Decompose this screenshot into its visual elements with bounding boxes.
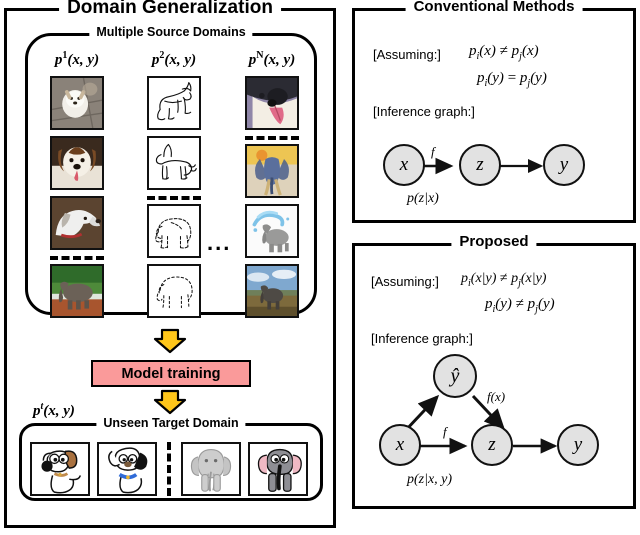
dog-sketch-1: [147, 76, 201, 130]
proposed-panel: Proposed [Assuming:] pi(x|y) ≠ pj(x|y) p…: [352, 243, 636, 509]
source-column-2-label: p2(x, y): [152, 50, 196, 69]
elephant-sketch-1: [147, 204, 201, 258]
source-column-1: p1(x, y): [44, 76, 110, 324]
node-z: z: [471, 424, 513, 466]
node-x: x: [379, 424, 421, 466]
multiple-source-domains-group: Multiple Source Domains p1(x, y): [25, 33, 317, 315]
elephant-painting-spray: [245, 204, 299, 258]
pomeranian-photo: [50, 76, 104, 130]
p-arguments: (x, y): [67, 52, 99, 68]
target-distribution-label: pt(x, y): [33, 401, 75, 420]
conventional-methods-panel: Conventional Methods [Assuming:] pi(x) ≠…: [352, 8, 636, 223]
p-arguments: (x, y): [43, 403, 75, 419]
elephant-painting-yellow: [245, 144, 299, 198]
model-training-box: Model training: [91, 360, 251, 387]
p-symbol: p: [33, 403, 41, 419]
p-arguments: (x, y): [264, 52, 296, 68]
source-column-3-label: pN(x, y): [249, 50, 295, 69]
node-y: y: [543, 144, 585, 186]
elephant-sketch-2: [147, 264, 201, 318]
edge-label-fx: f(x): [487, 389, 505, 405]
p-superscript: N: [256, 50, 263, 61]
unseen-target-domain-group: Unseen Target Domain: [19, 423, 323, 501]
node-yhat: ŷ: [433, 354, 477, 398]
cartoon-dog-1: [30, 442, 90, 496]
edge-label-f: f: [443, 424, 447, 440]
node-x: x: [383, 144, 425, 186]
arrow-down-to-target: [153, 390, 187, 414]
source-column-1-label: p1(x, y): [55, 50, 99, 69]
edge-label-f: f: [431, 144, 435, 160]
dog-sketch-2: [147, 136, 201, 190]
column-2-class-separator: [147, 196, 201, 200]
border-collie-painting: [245, 76, 299, 130]
node-z: z: [459, 144, 501, 186]
conventional-bottom-label: p(z|x): [407, 191, 439, 207]
cartoon-dog-2: [97, 442, 157, 496]
proposed-bottom-label: p(z|x, y): [407, 472, 452, 488]
columns-ellipsis: ...: [207, 232, 231, 254]
page-title: Domain Generalization: [59, 0, 281, 17]
target-image-row: [30, 442, 308, 496]
node-y: y: [557, 424, 599, 466]
domain-generalization-panel: Domain Generalization Multiple Source Do…: [4, 8, 336, 528]
cartoon-elephant-1: [181, 442, 241, 496]
p-symbol: p: [152, 52, 160, 68]
column-1-class-separator: [50, 256, 104, 260]
p-arguments: (x, y): [164, 52, 196, 68]
target-domain-title: Unseen Target Domain: [96, 417, 245, 430]
proposed-inference-graph: ŷ x z y f f(x) p(z|x, y): [355, 246, 633, 506]
source-column-3: pN(x, y): [239, 76, 305, 324]
source-column-2: p2(x, y): [141, 76, 207, 324]
saint-bernard-photo: [50, 136, 104, 190]
elephant-photo: [50, 264, 104, 318]
model-training-label: Model training: [121, 366, 220, 382]
dalmatian-head-photo: [50, 196, 104, 250]
source-domains-title: Multiple Source Domains: [89, 26, 252, 39]
column-3-class-separator: [245, 136, 299, 140]
p-symbol: p: [249, 52, 257, 68]
arrow-down-to-training: [153, 329, 187, 353]
cartoon-elephant-2: [248, 442, 308, 496]
target-class-separator: [167, 442, 171, 496]
elephant-painting-savanna: [245, 264, 299, 318]
p-symbol: p: [55, 52, 63, 68]
conventional-inference-graph: x z y f p(z|x): [355, 11, 633, 220]
